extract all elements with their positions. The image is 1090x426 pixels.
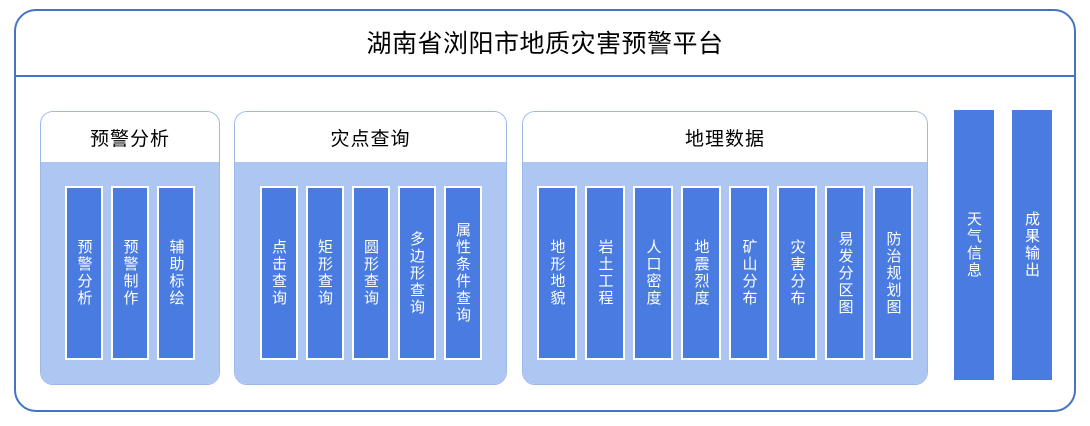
item-bar-disaster-point-query-4[interactable]: 属性条件查询	[444, 186, 482, 360]
item-label: 地形地貌	[548, 239, 567, 307]
item-label: 地震烈度	[692, 239, 711, 307]
platform-body: 预警分析 预警分析 预警制作 辅助标绘 灾点查询 点击查询	[16, 75, 1074, 410]
group-card-warning-analysis: 预警分析 预警分析 预警制作 辅助标绘	[40, 111, 220, 385]
module-bar-label: 天气信息	[964, 211, 984, 279]
item-label: 矩形查询	[315, 239, 334, 307]
item-label: 防治规划图	[884, 231, 903, 316]
item-label: 灾害分布	[788, 239, 807, 307]
item-label: 矿山分布	[740, 239, 759, 307]
item-label: 圆形查询	[361, 239, 380, 307]
item-label: 预警分析	[75, 239, 94, 307]
item-bar-geographic-data-1[interactable]: 岩土工程	[585, 186, 625, 360]
item-label: 属性条件查询	[453, 222, 472, 324]
group-items-warning-analysis: 预警分析 预警制作 辅助标绘	[41, 162, 219, 384]
group-header-geographic-data: 地理数据	[523, 112, 927, 162]
item-label: 多边形查询	[407, 231, 426, 316]
item-bar-geographic-data-7[interactable]: 防治规划图	[873, 186, 913, 360]
platform-title-bar: 湖南省浏阳市地质灾害预警平台	[16, 11, 1074, 77]
group-card-disaster-point-query: 灾点查询 点击查询 矩形查询 圆形查询 多边形查询 属性条件查询	[234, 111, 507, 385]
item-bar-geographic-data-2[interactable]: 人口密度	[633, 186, 673, 360]
item-bar-warning-analysis-0[interactable]: 预警分析	[65, 186, 103, 360]
item-bar-warning-analysis-1[interactable]: 预警制作	[111, 186, 149, 360]
item-label: 人口密度	[644, 239, 663, 307]
item-label: 预警制作	[121, 239, 140, 307]
group-header-label: 地理数据	[685, 124, 765, 151]
group-items-disaster-point-query: 点击查询 矩形查询 圆形查询 多边形查询 属性条件查询	[235, 162, 506, 384]
item-bar-disaster-point-query-1[interactable]: 矩形查询	[306, 186, 344, 360]
item-bar-geographic-data-0[interactable]: 地形地貌	[537, 186, 577, 360]
item-bar-geographic-data-5[interactable]: 灾害分布	[777, 186, 817, 360]
item-bar-disaster-point-query-0[interactable]: 点击查询	[260, 186, 298, 360]
item-label: 辅助标绘	[167, 239, 186, 307]
item-bar-disaster-point-query-2[interactable]: 圆形查询	[352, 186, 390, 360]
item-bar-geographic-data-3[interactable]: 地震烈度	[681, 186, 721, 360]
item-bar-geographic-data-6[interactable]: 易发分区图	[825, 186, 865, 360]
module-bar-weather-info[interactable]: 天气信息	[954, 110, 994, 380]
module-bar-label: 成果输出	[1022, 211, 1042, 279]
item-bar-disaster-point-query-3[interactable]: 多边形查询	[398, 186, 436, 360]
page-title: 湖南省浏阳市地质灾害预警平台	[366, 31, 723, 56]
group-items-geographic-data: 地形地貌 岩土工程 人口密度 地震烈度 矿山分布 灾害分布 易发	[523, 162, 927, 384]
group-card-geographic-data: 地理数据 地形地貌 岩土工程 人口密度 地震烈度 矿山分布	[522, 111, 928, 385]
item-label: 易发分区图	[836, 231, 855, 316]
module-bar-result-output[interactable]: 成果输出	[1012, 110, 1052, 380]
platform-frame: 湖南省浏阳市地质灾害预警平台 预警分析 预警分析 预警制作 辅助标绘	[14, 9, 1076, 412]
item-bar-warning-analysis-2[interactable]: 辅助标绘	[157, 186, 195, 360]
item-label: 岩土工程	[596, 239, 615, 307]
item-label: 点击查询	[269, 239, 288, 307]
group-header-label: 灾点查询	[330, 124, 410, 151]
group-header-disaster-point-query: 灾点查询	[235, 112, 506, 162]
item-bar-geographic-data-4[interactable]: 矿山分布	[729, 186, 769, 360]
group-header-label: 预警分析	[90, 124, 170, 151]
group-header-warning-analysis: 预警分析	[41, 112, 219, 162]
